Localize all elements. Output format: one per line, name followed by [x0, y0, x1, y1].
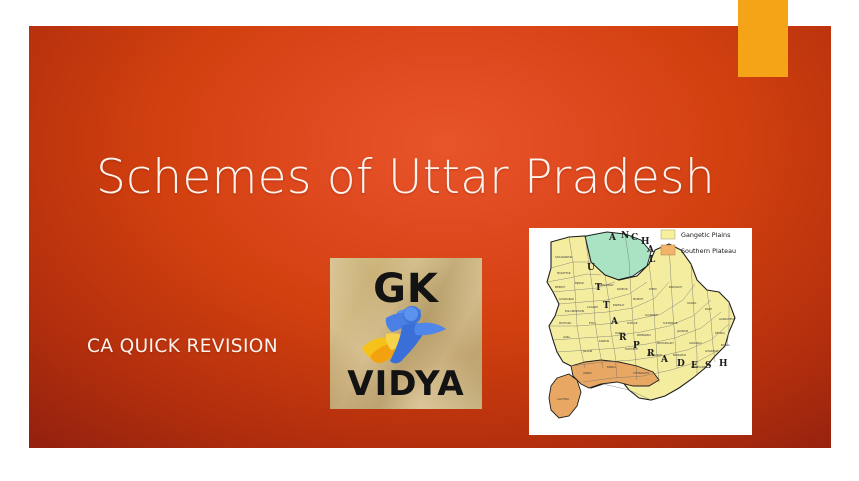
svg-text:AGRA: AGRA [563, 335, 570, 339]
legend-item-southern-plateau: Southern Plateau [661, 245, 736, 255]
svg-text:BULANDSHAHR: BULANDSHAHR [565, 309, 585, 313]
svg-text:BASTI: BASTI [705, 307, 713, 311]
svg-text:DEORIA: DEORIA [715, 331, 725, 335]
svg-text:L: L [649, 255, 656, 265]
svg-text:JAUNPUR: JAUNPUR [676, 329, 688, 333]
svg-text:BALLIA: BALLIA [721, 343, 730, 347]
slide-subtitle: CA QUICK REVISION [87, 336, 278, 357]
svg-text:GONDA: GONDA [687, 301, 697, 305]
legend-label-gangetic-plains: Gangetic Plains [681, 231, 731, 239]
svg-text:LUCKNOW: LUCKNOW [645, 313, 658, 317]
svg-text:A: A [610, 317, 619, 327]
svg-text:U: U [587, 263, 595, 273]
svg-text:T: T [603, 301, 610, 311]
svg-text:A: A [646, 245, 655, 255]
svg-text:GORAKHPUR: GORAKHPUR [719, 317, 735, 321]
legend-item-gangetic-plains: Gangetic Plains [661, 230, 731, 239]
svg-text:GHAZIPUR: GHAZIPUR [705, 349, 718, 353]
svg-text:ALIGARH: ALIGARH [587, 305, 598, 309]
svg-text:SULTANPUR: SULTANPUR [663, 321, 678, 325]
svg-text:RAMPUR: RAMPUR [617, 287, 628, 291]
svg-text:ETAH: ETAH [589, 321, 596, 325]
svg-text:JALAUN: JALAUN [582, 349, 592, 353]
svg-text:BAREILLY: BAREILLY [613, 303, 625, 307]
svg-text:SITAPUR: SITAPUR [627, 321, 638, 325]
logo-bottom-text: VIDYA [330, 364, 482, 404]
legend-label-southern-plateau: Southern Plateau [681, 247, 736, 255]
svg-text:MEERUT: MEERUT [555, 285, 566, 289]
svg-text:E: E [691, 361, 698, 371]
svg-text:R: R [619, 333, 627, 343]
svg-text:N: N [621, 231, 629, 241]
svg-text:CHITRAKOOT: CHITRAKOOT [633, 371, 650, 375]
logo-figure-icon [356, 304, 456, 366]
orange-accent-bar [738, 0, 788, 77]
svg-text:BAHRAICH: BAHRAICH [669, 285, 682, 289]
svg-text:C: C [631, 233, 638, 243]
gk-vidya-logo: GK VIDYA [330, 258, 482, 409]
svg-text:RAEBARELI: RAEBARELI [637, 333, 651, 337]
svg-text:PILIBHIT: PILIBHIT [633, 297, 644, 301]
page-title: Schemes of Uttar Pradesh [96, 152, 756, 204]
svg-text:MUZAFFAR: MUZAFFAR [557, 271, 571, 275]
svg-text:JHANSI: JHANSI [582, 371, 592, 375]
svg-text:LALITPUR: LALITPUR [557, 397, 569, 401]
svg-text:A: A [608, 233, 617, 243]
svg-text:R: R [647, 349, 655, 359]
svg-text:VARANASI: VARANASI [689, 341, 702, 345]
svg-text:H: H [719, 359, 728, 369]
svg-text:KHERI: KHERI [649, 287, 657, 291]
svg-text:D: D [677, 359, 685, 369]
svg-text:PRATAPGARH: PRATAPGARH [657, 341, 674, 345]
svg-text:GHAZIABAD: GHAZIABAD [559, 297, 574, 301]
svg-text:SAHARANPUR: SAHARANPUR [555, 255, 572, 259]
svg-text:BIJNOR: BIJNOR [575, 281, 584, 285]
svg-text:S: S [705, 361, 712, 371]
svg-text:T: T [595, 283, 602, 293]
svg-text:KANPUR: KANPUR [599, 339, 610, 343]
svg-text:A: A [660, 355, 669, 365]
svg-text:MATHURA: MATHURA [559, 321, 572, 325]
svg-text:MIRZAPUR: MIRZAPUR [673, 353, 686, 357]
uttar-pradesh-map: SAHARANPUR MUZAFFAR BIJNOR MEERUT GHAZIA… [529, 228, 752, 435]
svg-text:P: P [633, 341, 640, 351]
svg-text:BANDA: BANDA [607, 365, 616, 369]
presentation-slide: Schemes of Uttar Pradesh CA QUICK REVISI… [0, 0, 859, 481]
